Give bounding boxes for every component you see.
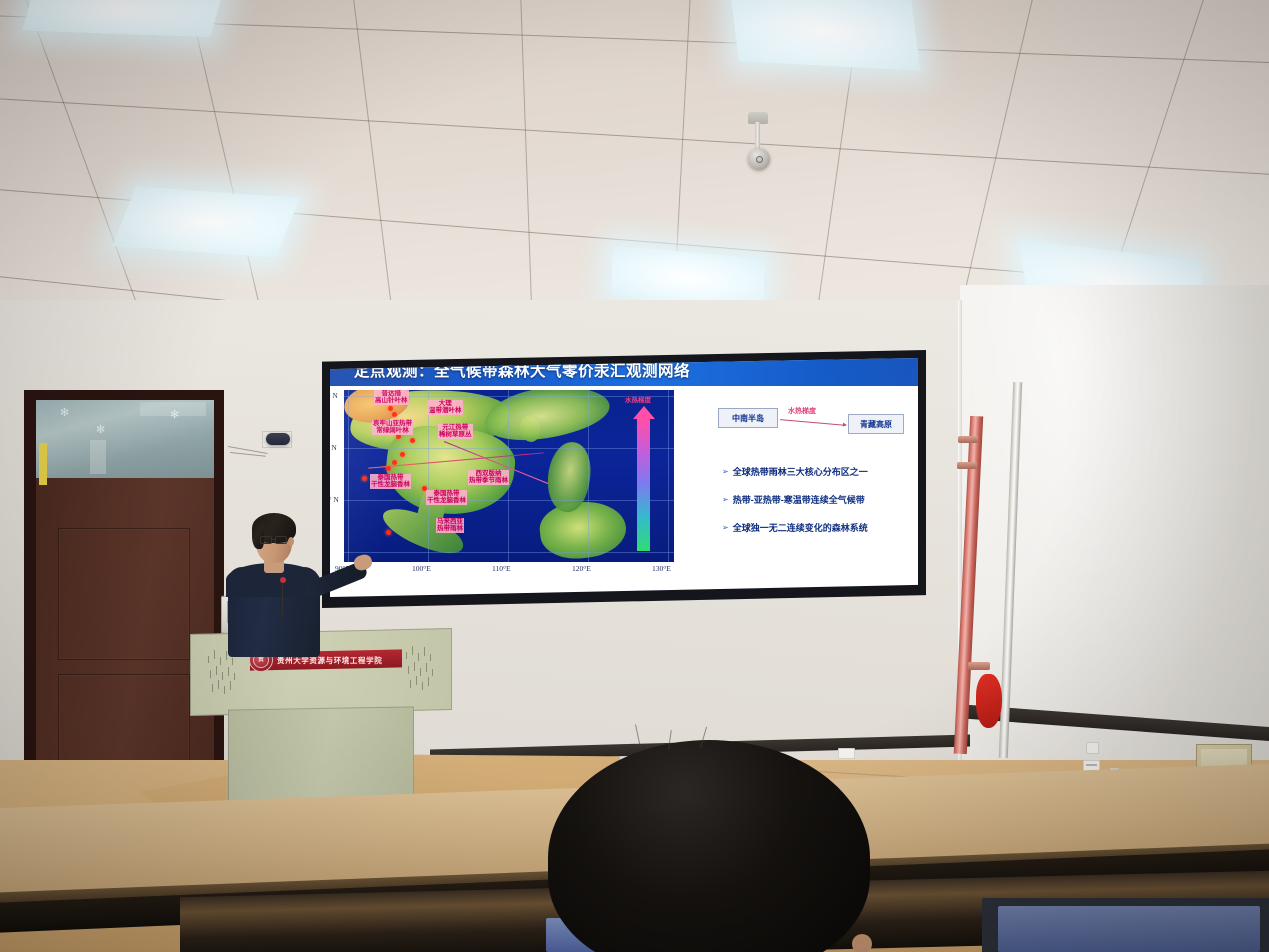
slide-bullet: ➢ 全球热带雨林三大核心分布区之一 <box>722 468 868 477</box>
ceiling-light-panel <box>22 0 224 37</box>
university-seal-glyph: 贵 <box>258 657 264 663</box>
map-gridline <box>668 390 669 562</box>
window-reflection <box>90 440 106 474</box>
podium-speaker-grille-right <box>404 644 440 694</box>
map-gridline <box>344 448 674 449</box>
bullet-text: 全球热带雨林三大核心分布区之一 <box>733 468 868 477</box>
door-upper-panel <box>58 528 190 660</box>
presenter-lanyard <box>282 583 283 617</box>
presenter-ear <box>288 537 294 546</box>
map-gradient-label: 水热梯度 <box>625 394 651 404</box>
lecture-hall-photo: ✻ ✻ ✻ 定点观测：全气候带森林大气零价汞汇观测网络 <box>0 0 1269 952</box>
map-site-label: 西双版纳 热带季节雨林 <box>468 470 509 485</box>
map-site-dot <box>410 438 415 443</box>
smoke-detector-led-icon <box>756 156 763 163</box>
pipe-clamp <box>958 436 978 443</box>
bullet-marker-icon: ➢ <box>722 496 729 504</box>
presenter-glasses-left-lens <box>260 536 272 544</box>
slide-map: 普达措 高山针叶林 大理 温带潜叶林 哀牢山亚热带 常绿阔叶林 元江热带 稀树草… <box>344 390 674 562</box>
bullet-marker-icon: ➢ <box>722 468 729 476</box>
pipe-clamp <box>968 662 990 670</box>
presenter-glasses-bridge <box>272 539 275 540</box>
fire-hose-cloth <box>976 674 1002 728</box>
map-lon-tick: 110°E <box>492 564 511 573</box>
wall-outlet[interactable] <box>838 748 855 759</box>
map-site-dot <box>388 406 393 411</box>
diagram-node-left: 中南半岛 <box>718 408 778 428</box>
gradient-arrow-head-icon <box>633 406 655 419</box>
audience-member-ear <box>852 934 872 952</box>
presenter-badge-icon <box>280 577 286 583</box>
map-gridline <box>588 390 589 562</box>
map-lon-tick: 130°E <box>652 564 671 573</box>
map-site-label: 马来西亚 热带雨林 <box>436 518 464 533</box>
wall-outlet-slot <box>1086 764 1097 766</box>
map-site-dot <box>362 476 367 481</box>
map-site-label: 大理 温带潜叶林 <box>428 400 463 415</box>
presentation-slide: 定点观测：全气候带森林大气零价汞汇观测网络 <box>330 356 918 599</box>
ceiling-light-panel <box>730 0 920 71</box>
map-site-label: 泰国热带 干性龙脑香林 <box>426 490 467 505</box>
map-site-dot <box>396 434 401 439</box>
map-site-dot <box>392 412 397 417</box>
map-site-dot <box>392 460 397 465</box>
map-site-dot <box>400 452 405 457</box>
map-site-label: 元江热带 稀树草原丛 <box>438 424 473 439</box>
bullet-text: 热带-亚热带-寒温带连续全气候带 <box>733 496 865 505</box>
map-site-label: 哀牢山亚热带 常绿阔叶林 <box>372 420 413 435</box>
diagram-arrow <box>780 419 846 426</box>
diagram-node-right: 青藏高原 <box>848 414 904 434</box>
window-snowflake-decal-icon: ✻ <box>170 410 179 421</box>
map-gridline <box>344 552 674 553</box>
window-snowflake-decal-icon: ✻ <box>96 425 105 436</box>
map-site-label: 泰国热带 干性龙脑香林 <box>370 474 411 489</box>
presenter-glasses-right-lens <box>275 536 287 544</box>
map-lat-tick: 20° N <box>330 443 337 452</box>
map-lat-tick: 30° N <box>330 391 338 400</box>
map-lon-tick: 100°E <box>412 564 431 573</box>
wall-outlet[interactable] <box>1086 742 1099 754</box>
bullet-marker-icon: ➢ <box>722 524 729 532</box>
diagram-arrow-label: 水热梯度 <box>788 406 816 416</box>
presenter <box>222 505 392 645</box>
map-gridline <box>344 500 674 501</box>
ceiling-light-panel <box>112 186 299 258</box>
foreground-laptop-screen[interactable] <box>998 906 1260 952</box>
map-gridline <box>428 390 429 562</box>
led-display-screen[interactable]: 定点观测：全气候带森林大气零价汞汇观测网络 <box>330 356 918 599</box>
map-lon-tick: 120°E <box>572 564 591 573</box>
gradient-arrow-bar-icon <box>637 419 650 551</box>
slide-bullet: ➢ 热带-亚热带-寒温带连续全气候带 <box>722 496 865 505</box>
map-site-label: 普达措 高山针叶林 <box>374 390 409 405</box>
window-snowflake-decal-icon: ✻ <box>60 408 69 419</box>
bullet-text: 全球独一无二连续变化的森林系统 <box>733 524 868 533</box>
pipe-clamp <box>957 462 977 469</box>
map-site-dot <box>386 466 391 471</box>
slide-bullet: ➢ 全球独一无二连续变化的森林系统 <box>722 524 868 533</box>
map-lat-tick: 10° N <box>330 495 339 504</box>
wall-speaker-sensor-icon[interactable] <box>266 433 290 445</box>
door-hinge-tag <box>39 443 47 485</box>
